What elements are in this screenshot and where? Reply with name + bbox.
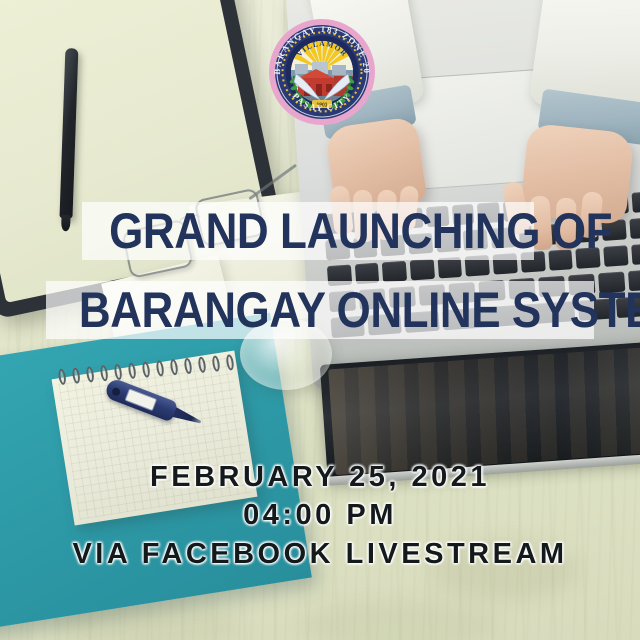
seal-graphic: 1901 BARANGAY 183 ZONE 20 PASAY CITY VIL… xyxy=(268,18,376,126)
spiral-ring xyxy=(57,368,66,385)
screen-reflection xyxy=(328,343,640,475)
event-details: FEBRUARY 25, 2021 04:00 PM VIA FACEBOOK … xyxy=(0,458,640,573)
spiral-ring xyxy=(127,362,136,379)
keyboard-key xyxy=(629,217,640,239)
event-date: FEBRUARY 25, 2021 xyxy=(0,458,640,496)
spiral-ring xyxy=(141,361,150,378)
eyeglass-temple xyxy=(248,164,297,201)
thermometer-button xyxy=(111,387,121,397)
spiral-ring xyxy=(71,367,80,384)
keyboard-key xyxy=(631,191,640,212)
keyboard-key xyxy=(437,257,462,279)
spiral-ring xyxy=(169,359,178,376)
event-time: 04:00 PM xyxy=(0,496,640,534)
event-channel: VIA FACEBOOK LIVESTREAM xyxy=(0,535,640,573)
spiral-ring xyxy=(85,366,94,383)
spiral-ring xyxy=(183,358,192,375)
keyboard-key xyxy=(382,261,407,283)
poster-title-line-2: BARANGAY ONLINE SYSTEM xyxy=(79,285,561,335)
thermometer-display xyxy=(125,388,158,411)
keyboard-key xyxy=(631,243,640,265)
spiral-ring xyxy=(155,360,164,377)
spiral-ring xyxy=(99,365,108,382)
barangay-seal-icon: 1901 BARANGAY 183 ZONE 20 PASAY CITY VIL… xyxy=(268,18,376,126)
event-poster: 1901 BARANGAY 183 ZONE 20 PASAY CITY VIL… xyxy=(0,0,640,640)
poster-title-line-1: GRAND LAUNCHING OF xyxy=(109,206,507,256)
keyboard-key xyxy=(410,259,435,281)
